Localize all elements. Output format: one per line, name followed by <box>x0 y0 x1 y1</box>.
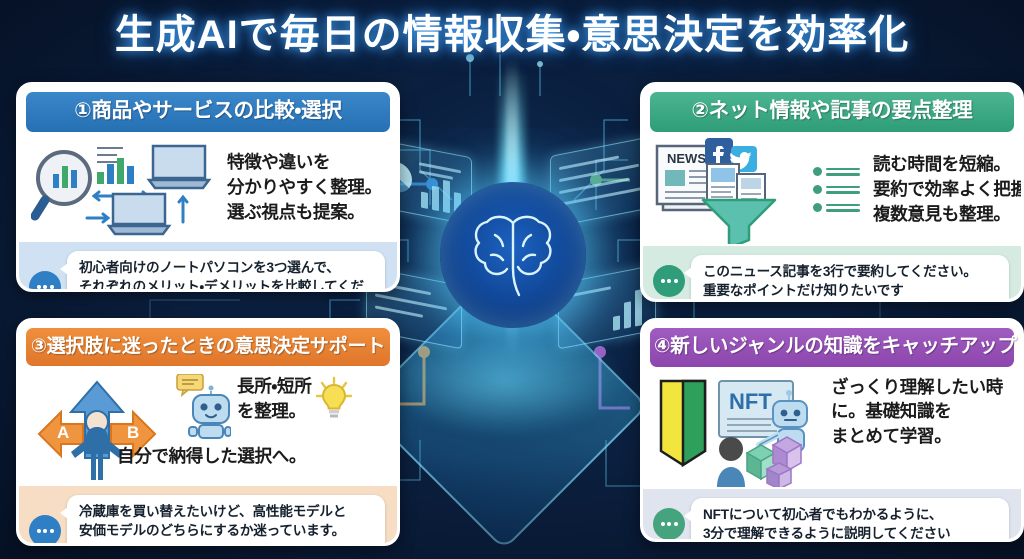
card2-header: ②ネット情報や記事の要点整理 <box>650 92 1014 132</box>
brain-icon <box>440 182 586 328</box>
card-decision-support[interactable]: ③選択肢に迷ったときの意思決定サポート A B <box>16 318 400 546</box>
card1-body-text: 特徴や違いを 分かりやすく整理。 選ぶ視点も提案。 <box>227 150 382 225</box>
beginner-mark-nft-robot-icon: NFT <box>655 375 823 487</box>
card2-body-text: 読む時間を短縮。 要約で効率よく把握、 複数意見も整理。 <box>873 152 1021 227</box>
lightbulb-icon <box>314 376 354 425</box>
card1-prompt: 初心者向けのノートパソコンを3つ選んで、 それぞれのメリット・デメリットを比較し… <box>19 242 397 290</box>
card3-body-text-bottom: 自分で納得した選択へ。 <box>117 444 354 469</box>
card1-header: ①商品やサービスの比較・選択 <box>26 92 390 132</box>
card-summarize-news[interactable]: ②ネット情報や記事の要点整理 NEWS <box>640 82 1024 302</box>
nft-label: NFT <box>729 389 772 414</box>
newspaper-social-funnel-icon: NEWS <box>655 136 805 244</box>
card-learn-new-genre[interactable]: ④新しいジャンルの知識をキャッチアップ NFT <box>640 318 1024 542</box>
chat-dots-icon <box>29 271 61 289</box>
card3-header: ③選択肢に迷ったときの意思決定サポート <box>26 328 390 366</box>
svg-text:A: A <box>57 423 69 442</box>
svg-text:B: B <box>127 423 139 442</box>
card-product-comparison[interactable]: ①商品やサービスの比較・選択 <box>16 82 400 292</box>
chat-dots-icon <box>653 508 685 539</box>
chat-dots-icon <box>29 515 61 543</box>
card3-prompt-bubble: 冷蔵庫を買い替えたいけど、高性能モデルと 安価モデルのどちらにするか迷っています… <box>67 495 385 543</box>
card2-bullet-marks <box>813 167 860 212</box>
robot-icon <box>171 374 231 445</box>
page-title: 生成AIで毎日の情報収集・意思決定を効率化 <box>0 8 1024 62</box>
ai-core-graphic <box>372 96 652 426</box>
card4-prompt-bubble: NFTについて初心者でもわかるように、 3分で理解できるように説明してください <box>691 498 1009 540</box>
card2-prompt: このニュース記事を3行で要約してください。 重要なポイントだけ知りたいです <box>643 246 1021 300</box>
chat-dots-icon <box>653 265 685 297</box>
card3-body-text-top: 長所・短所 を整理。 <box>237 374 311 424</box>
card3-prompt: 冷蔵庫を買い替えたいけど、高性能モデルと 安価モデルのどちらにするか迷っています… <box>19 486 397 543</box>
card2-prompt-bubble: このニュース記事を3行で要約してください。 重要なポイントだけ知りたいです <box>691 255 1009 300</box>
svg-text:NEWS: NEWS <box>667 151 706 166</box>
infographic-stage: 生成AIで毎日の情報収集・意思決定を効率化 ①商品やサービスの比較・選択 <box>0 0 1024 559</box>
card4-body-text: ざっくり理解したい時 に。基礎知識を まとめて学習。 <box>831 375 1003 450</box>
card4-prompt: NFTについて初心者でもわかるように、 3分で理解できるように説明してください <box>643 489 1021 540</box>
magnifier-chart-laptops-icon <box>31 136 219 240</box>
card4-header: ④新しいジャンルの知識をキャッチアップ <box>650 328 1014 367</box>
card1-prompt-bubble: 初心者向けのノートパソコンを3つ選んで、 それぞれのメリット・デメリットを比較し… <box>67 251 385 290</box>
